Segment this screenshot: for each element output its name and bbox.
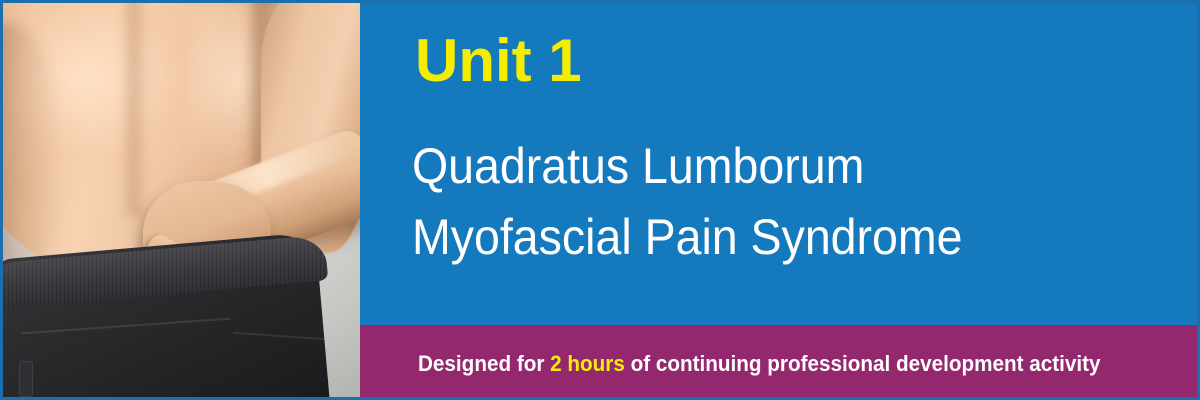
cpd-footer-bar: Designed for 2 hours of continuing profe… [360, 325, 1197, 397]
cpd-prefix: Designed for [418, 351, 550, 376]
belt-loop [19, 361, 33, 397]
lower-back-pain-photo [3, 3, 360, 397]
cpd-suffix: of continuing professional development a… [625, 351, 1101, 376]
course-unit-banner: Unit 1 Quadratus Lumborum Myofascial Pai… [0, 0, 1200, 400]
cpd-hours-badge: 2 hours [550, 351, 625, 376]
page-title-line-2: Myofascial Pain Syndrome [412, 202, 962, 273]
unit-label: Unit 1 [415, 31, 582, 91]
cpd-footer-text: Designed for 2 hours of continuing profe… [418, 351, 1101, 377]
page-title: Quadratus Lumborum Myofascial Pain Syndr… [412, 131, 962, 273]
spine-groove [121, 3, 147, 217]
page-title-line-1: Quadratus Lumborum [412, 131, 962, 202]
